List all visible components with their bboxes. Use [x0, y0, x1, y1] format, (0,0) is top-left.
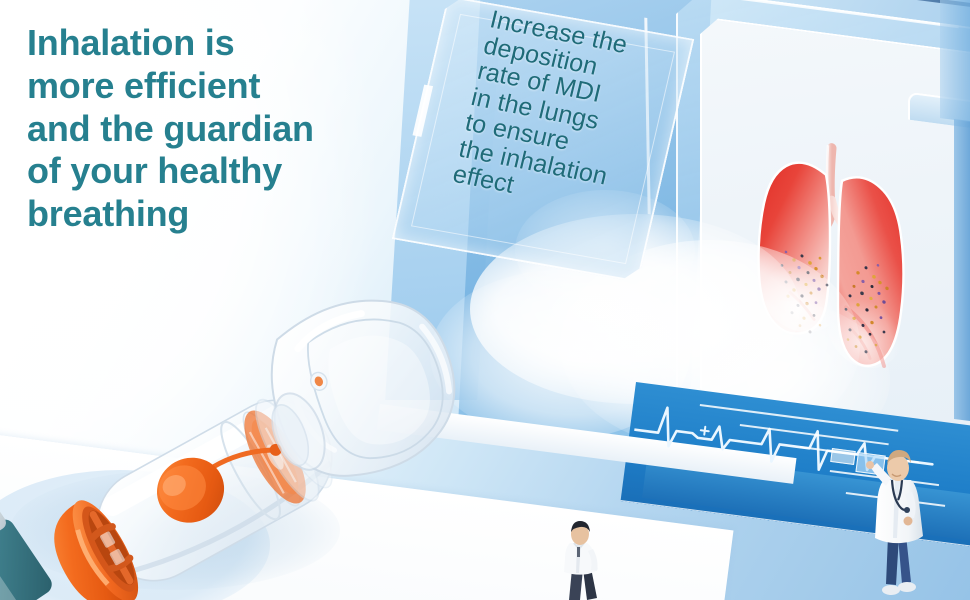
hud-chip — [830, 448, 856, 465]
advertisement-banner: Increase the deposition rate of MDI in t… — [0, 0, 970, 600]
headline-line: more efficient — [27, 65, 427, 108]
hud-edge-band — [940, 0, 970, 122]
inhaler-spacer-with-mask — [0, 250, 500, 600]
lungs-illustration — [742, 119, 928, 390]
hud-edge-band — [954, 119, 970, 421]
headline-line: Inhalation is — [27, 22, 427, 65]
callout-text: Increase the deposition rate of MDI in t… — [450, 6, 702, 227]
walking-man-figure — [556, 521, 606, 600]
headline-line: of your healthy — [27, 150, 427, 193]
mdi-inhaler — [0, 494, 56, 600]
headline-line: breathing — [27, 193, 427, 236]
headline-line: and the guardian — [27, 108, 427, 151]
doctor-figure — [862, 440, 928, 600]
page-title: Inhalation is more efficient and the gua… — [27, 22, 427, 236]
